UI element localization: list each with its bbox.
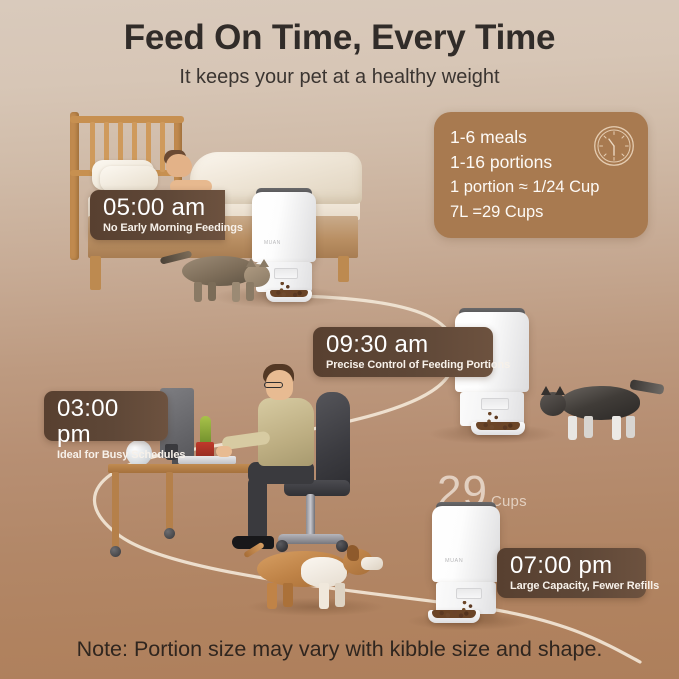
office-chair-base [278, 534, 344, 544]
feeder-brand-label: MUAN [264, 240, 281, 246]
bed-spindle [160, 122, 165, 172]
callout-0300pm[interactable]: 03:00 pm Ideal for Busy Schedules [44, 391, 168, 441]
cat-leg [584, 416, 593, 438]
person-lower-leg [248, 478, 267, 540]
callout-time: 09:30 am [326, 332, 480, 358]
dog-leg [335, 583, 345, 607]
kibble-in-bowl [476, 422, 520, 430]
cat-tabby [160, 248, 280, 304]
cat-ear [555, 386, 565, 395]
cat-body [560, 386, 640, 420]
feeder-hopper [432, 506, 500, 582]
office-chair-post [306, 494, 315, 536]
infographic-canvas: Feed On Time, Every Time It keeps your p… [0, 0, 679, 679]
callout-caption: Ideal for Busy Schedules [57, 448, 155, 462]
desk-leg [166, 472, 173, 530]
sleeping-person [166, 154, 192, 177]
callout-time: 03:00 pm [57, 396, 155, 448]
pillow [100, 166, 158, 192]
bed-leg [90, 256, 101, 290]
callout-caption: Large Capacity, Fewer Refills [510, 579, 633, 593]
dog-ear [347, 545, 359, 561]
cat-tuxedo [536, 378, 664, 444]
dog-tail [243, 542, 265, 559]
callout-caption: Precise Control of Feeding Portions [326, 358, 480, 372]
cat-ear [541, 386, 551, 395]
cat-ear [246, 258, 256, 267]
dog-muzzle [361, 557, 383, 570]
callout-time: 05:00 am [103, 195, 212, 221]
kibble-in-bowl [432, 610, 476, 618]
dog-leg [319, 583, 329, 609]
cat-ear [259, 259, 269, 267]
spec-panel: 1-6 meals 1-16 portions 1 portion ≈ 1/24… [434, 112, 648, 238]
feeder-dispense-window [456, 588, 482, 599]
feeder-dispense-window [481, 398, 509, 410]
callout-caption: No Early Morning Feedings [103, 221, 212, 235]
desk-caster [110, 546, 121, 557]
cat-leg [208, 282, 216, 301]
dog-leg [283, 583, 293, 607]
keyboard [178, 456, 236, 464]
page-subtitle: It keeps your pet at a healthy weight [0, 66, 679, 89]
cat-head [540, 392, 566, 416]
desk-leg [112, 472, 119, 548]
bed-leg [338, 256, 349, 282]
person-hand [216, 446, 232, 457]
spec-line-portion-size: 1 portion ≈ 1/24 Cup [450, 175, 640, 200]
spec-line-capacity: 7L =29 Cups [450, 200, 640, 225]
cat-leg [568, 416, 577, 440]
footer-note: Note: Portion size may vary with kibble … [0, 637, 679, 662]
spec-list: 1-6 meals 1-16 portions 1 portion ≈ 1/24… [450, 125, 640, 225]
desk-caster [164, 528, 175, 539]
cat-leg [612, 416, 621, 440]
cat-leg [232, 282, 240, 302]
dog-leg [267, 583, 277, 609]
desk-surface [108, 464, 268, 473]
spec-line-portions: 1-16 portions [450, 150, 640, 175]
callout-0930am[interactable]: 09:30 am Precise Control of Feeding Port… [313, 327, 493, 377]
cat-tail [629, 379, 664, 395]
feeder-brand-label: MUAN [445, 558, 463, 564]
callout-time: 07:00 pm [510, 553, 633, 579]
callout-0700pm[interactable]: 07:00 pm Large Capacity, Fewer Refills [497, 548, 646, 598]
page-title: Feed On Time, Every Time [0, 18, 679, 58]
bed-post-left [70, 112, 79, 260]
glasses-icon [264, 382, 283, 388]
bed-rail-top [70, 116, 184, 123]
pet-feeder-device: MUAN [432, 506, 500, 624]
cat-leg [626, 416, 635, 438]
cat-leg [246, 282, 254, 301]
spec-line-meals: 1-6 meals [450, 125, 640, 150]
cat-leg [194, 282, 202, 302]
callout-0500am[interactable]: 05:00 am No Early Morning Feedings [90, 190, 225, 240]
dog [243, 545, 385, 611]
